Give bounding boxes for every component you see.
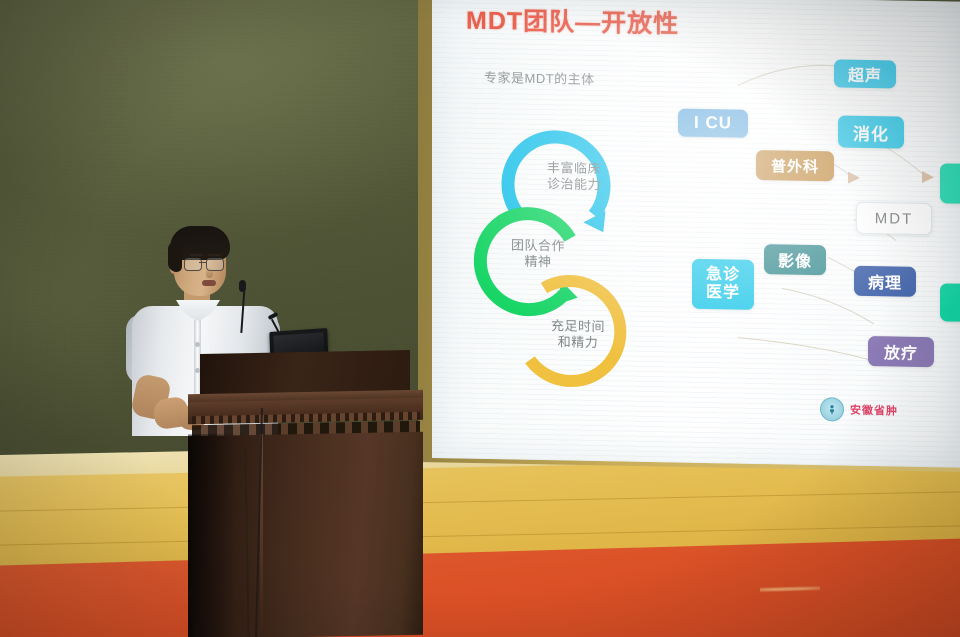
- lectern-shadow: [188, 434, 236, 637]
- sideburn: [168, 242, 182, 272]
- eyebrow-left: [190, 254, 203, 256]
- projection-screen: MDT团队—开放性 专家是MDT的主体 丰富临床 诊治能力: [432, 0, 960, 468]
- eyeglass-lens-left: [184, 258, 202, 271]
- photo-scene: MDT团队—开放性 专家是MDT的主体 丰富临床 诊治能力: [0, 0, 960, 637]
- eyebrow-right: [208, 254, 221, 256]
- screen-glare: [432, 0, 960, 468]
- shirt-button: [195, 342, 200, 347]
- eyeglass-bridge: [199, 262, 207, 263]
- nose: [206, 268, 213, 278]
- wooden-lectern: [188, 392, 423, 637]
- mouth: [202, 280, 216, 286]
